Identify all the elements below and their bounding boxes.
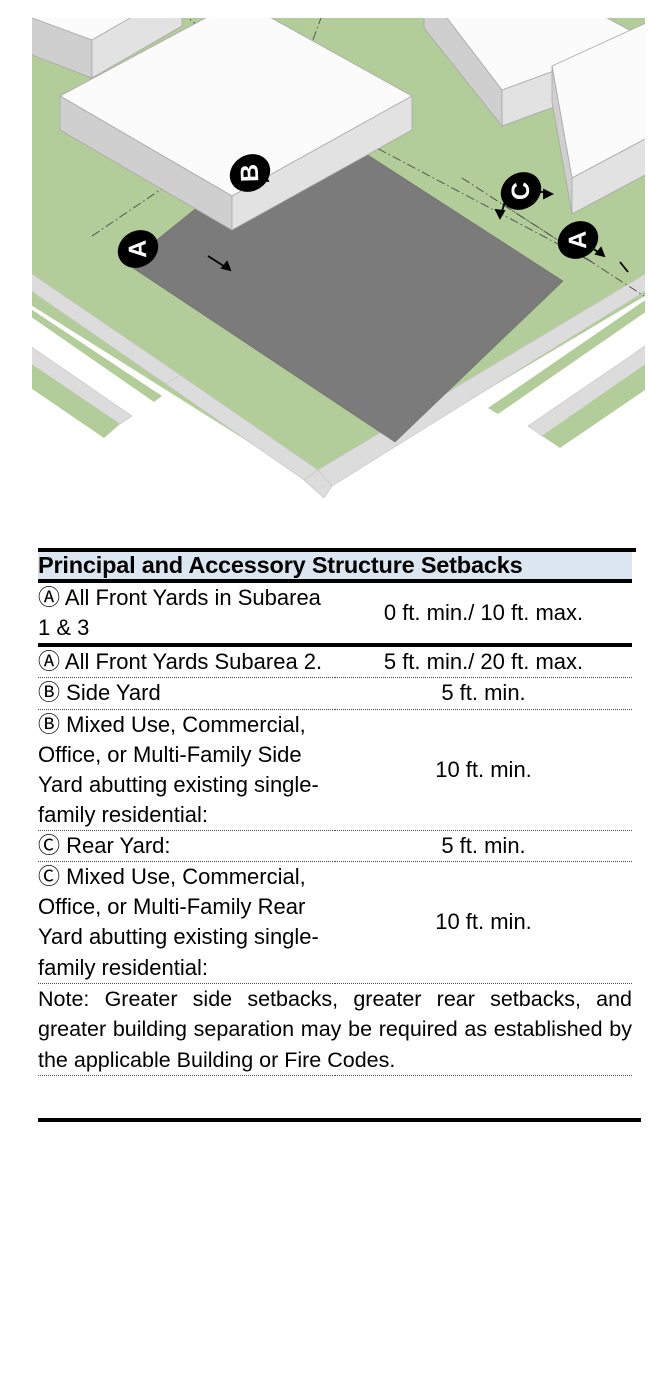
row-label-text: Mixed Use, Commercial, Office, or Multi-… [38,864,319,979]
row-label-text: Side Yard [66,680,161,705]
row-value-text: 5 ft. min. [335,831,632,862]
svg-text:A: A [124,239,153,258]
table-note-row: Note: Greater side setbacks, greater rea… [38,983,632,1076]
table-row-rear-yard-mixed-use: Ⓒ Mixed Use, Commercial, Office, or Mult… [38,862,632,984]
row-value-text: 5 ft. min. [335,678,632,709]
marker-badge-a: Ⓐ [38,585,60,610]
marker-badge-b: Ⓑ [38,680,60,705]
table-row-side-yard-mixed-use: Ⓑ Mixed Use, Commercial, Office, or Mult… [38,709,632,831]
marker-badge-c: Ⓒ [38,864,60,889]
row-label-cell: Ⓐ All Front Yards Subarea 2. [38,645,335,678]
row-label-cell: Ⓐ All Front Yards in Subarea 1 & 3 [38,581,335,645]
svg-text:B: B [236,163,265,182]
row-label-text: All Front Yards Subarea 2. [65,649,322,674]
row-value-text: 10 ft. min. [335,862,632,984]
table-row-rear-yard: Ⓒ Rear Yard: 5 ft. min. [38,831,632,862]
setbacks-table: Principal and Accessory Structure Setbac… [38,552,632,1102]
row-label-cell: Ⓑ Side Yard [38,678,335,709]
setback-axonometric-diagram: A B C A [32,18,645,508]
row-label-text: Rear Yard: [66,833,170,858]
row-value-text: 5 ft. min./ 20 ft. max. [335,645,632,678]
row-label-cell: Ⓒ Rear Yard: [38,831,335,862]
page-root: A B C A Principa [0,0,657,1395]
row-value-text: 10 ft. min. [335,709,632,831]
table-row-front-yard-sub2: Ⓐ All Front Yards Subarea 2. 5 ft. min./… [38,645,632,678]
table-body: Ⓐ All Front Yards in Subarea 1 & 3 0 ft.… [38,581,632,1102]
row-label-cell: Ⓒ Mixed Use, Commercial, Office, or Mult… [38,862,335,984]
table-row-side-yard: Ⓑ Side Yard 5 ft. min. [38,678,632,709]
marker-badge-a: Ⓐ [38,649,60,674]
table-title-row: Principal and Accessory Structure Setbac… [38,552,632,581]
table-blank-cell [38,1076,632,1103]
row-label-text: Mixed Use, Commercial, Office, or Multi-… [38,712,319,827]
table-row-front-yard-sub13: Ⓐ All Front Yards in Subarea 1 & 3 0 ft.… [38,581,632,645]
marker-badge-c: Ⓒ [38,833,60,858]
svg-text:C: C [507,181,536,200]
row-label-text: All Front Yards in Subarea 1 & 3 [38,585,321,640]
table-bottom-rule [38,1118,641,1122]
svg-text:A: A [564,230,593,249]
table-blank-row [38,1076,632,1103]
row-label-cell: Ⓑ Mixed Use, Commercial, Office, or Mult… [38,709,335,831]
table-title: Principal and Accessory Structure Setbac… [38,552,632,581]
row-value-text: 0 ft. min./ 10 ft. max. [335,581,632,645]
setbacks-table-container: Principal and Accessory Structure Setbac… [38,548,643,1122]
marker-badge-b: Ⓑ [38,712,60,737]
diagram-svg: A B C A [32,18,645,508]
table-note-text: Note: Greater side setbacks, greater rea… [38,983,632,1076]
